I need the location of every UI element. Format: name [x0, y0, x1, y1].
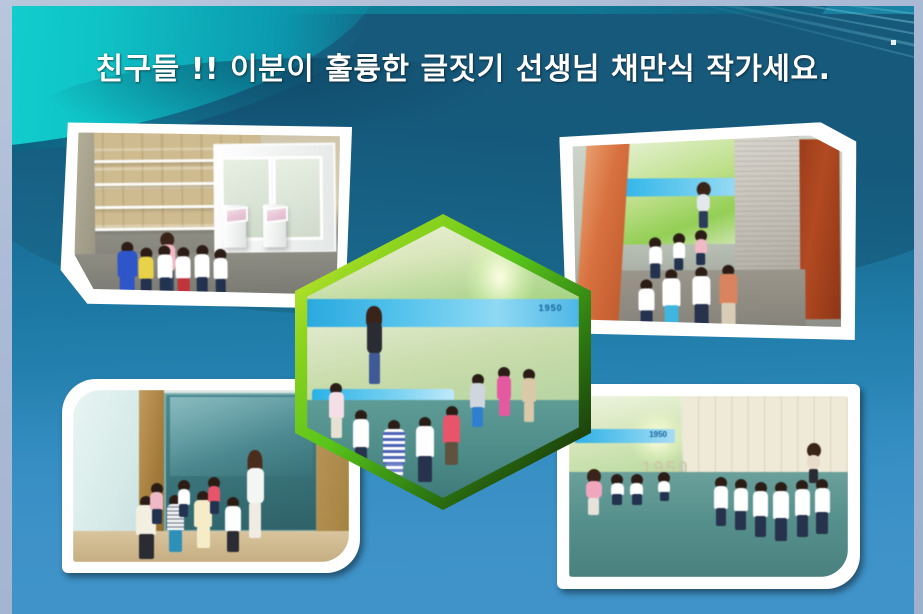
background-streak [458, 6, 914, 20]
background-streak [531, 6, 914, 42]
photo-bottom-right[interactable]: 1950 1950 [557, 384, 860, 589]
photo-top-left[interactable] [59, 119, 354, 311]
photo-bottom-right-image: 1950 1950 [569, 396, 848, 577]
photo-top-left-image [73, 130, 342, 298]
exhibit-year-label-bottom-right: 1950 [649, 430, 667, 439]
background-streak [490, 6, 914, 30]
slide-title: 친구들 !! 이분이 훌륭한 글짓기 선생님 채만식 작가세요. [12, 44, 914, 88]
photo-center-image: 1950 [307, 226, 579, 498]
slide-canvas: 친구들 !! 이분이 훌륭한 글짓기 선생님 채만식 작가세요. [12, 6, 914, 614]
presentation-slide: 친구들 !! 이분이 훌륭한 글짓기 선생님 채만식 작가세요. [0, 0, 923, 614]
photo-top-right[interactable] [559, 122, 858, 342]
exhibit-year-label-center: 1950 [539, 303, 563, 313]
photo-top-right-image [572, 135, 843, 329]
